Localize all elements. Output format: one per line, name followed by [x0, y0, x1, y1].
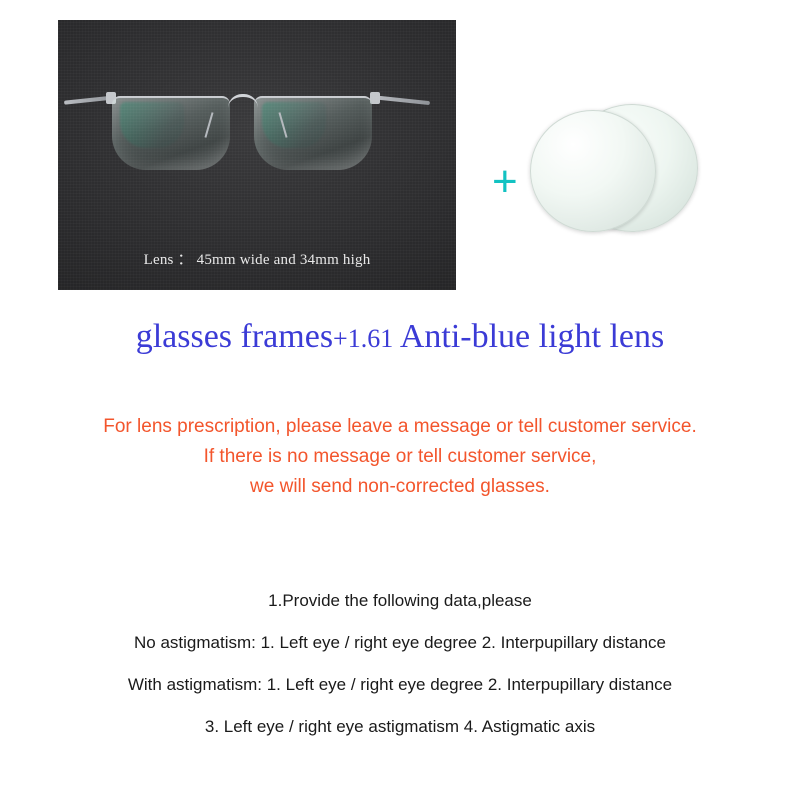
product-image-row: Lens ： 45mm wide and 34mm high + [0, 0, 800, 300]
instruction-line-1: 1.Provide the following data,please [0, 580, 800, 622]
prescription-instructions: 1.Provide the following data,please No a… [0, 580, 800, 748]
frame-lens-left [112, 96, 230, 170]
instruction-line-4: 3. Left eye / right eye astigmatism 4. A… [0, 706, 800, 748]
lens-disc-front [530, 110, 656, 232]
instruction-line-2: No astigmatism: 1. Left eye / right eye … [0, 622, 800, 664]
frame-lens-right [254, 96, 372, 170]
prescription-warning: For lens prescription, please leave a me… [0, 412, 800, 502]
warning-line-3: we will send non-corrected glasses. [0, 472, 800, 502]
warning-line-2: If there is no message or tell customer … [0, 442, 800, 472]
glasses-frame-photo: Lens ： 45mm wide and 34mm high [58, 20, 456, 290]
product-headline: glasses frames+1.61 Anti-blue light lens [0, 318, 800, 356]
warning-line-1: For lens prescription, please leave a me… [0, 412, 800, 442]
lens-pair-photo [530, 104, 710, 234]
instruction-line-3: With astigmatism: 1. Left eye / right ey… [0, 664, 800, 706]
lens-dimension-caption: Lens ： 45mm wide and 34mm high [58, 248, 456, 269]
eyeglasses-illustration [58, 78, 456, 208]
plus-icon: + [492, 160, 518, 204]
headline-part-index: +1.61 [333, 324, 393, 353]
frame-bridge [228, 94, 258, 111]
headline-part-lens: Anti-blue light lens [393, 318, 664, 355]
headline-part-frames: glasses frames [136, 318, 333, 355]
